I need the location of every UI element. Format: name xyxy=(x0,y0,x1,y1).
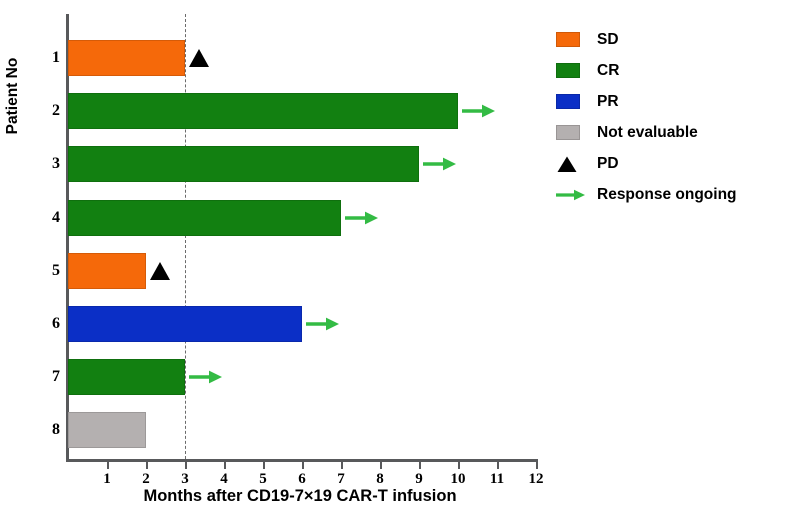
reference-line-month-3 xyxy=(185,14,186,464)
legend-row-response-ongoing[interactable]: Response ongoing xyxy=(556,179,800,210)
legend-label: SD xyxy=(590,31,619,49)
y-tick-label-patient-6: 6 xyxy=(34,306,60,342)
bar-patient-4[interactable] xyxy=(68,200,341,236)
y-tick-label-patient-1: 1 xyxy=(34,40,60,76)
x-tick-2 xyxy=(146,461,148,469)
y-tick-label-patient-7: 7 xyxy=(34,359,60,395)
bar-row xyxy=(68,253,536,289)
green-arrow-icon xyxy=(345,211,379,225)
green-square-icon xyxy=(556,63,580,78)
bar-patient-5[interactable] xyxy=(68,253,146,289)
legend-row-cr[interactable]: CR xyxy=(556,55,800,86)
x-tick-label-4: 4 xyxy=(207,471,241,488)
legend: SDCRPRNot evaluablePDResponse ongoing xyxy=(556,24,800,210)
bar-row xyxy=(68,40,536,76)
orange-square-icon xyxy=(556,24,590,55)
x-tick-label-12: 12 xyxy=(519,471,553,488)
x-tick-3 xyxy=(185,461,187,469)
x-tick-1 xyxy=(107,461,109,469)
x-tick-label-6: 6 xyxy=(285,471,319,488)
legend-label: Response ongoing xyxy=(590,186,737,204)
green-arrow-icon xyxy=(556,179,590,210)
bar-row xyxy=(68,200,536,236)
legend-row-pd[interactable]: PD xyxy=(556,148,800,179)
bar-row xyxy=(68,412,536,448)
y-tick-label-patient-3: 3 xyxy=(34,146,60,182)
gray-square-icon xyxy=(556,117,590,148)
green-arrow-icon xyxy=(423,157,457,171)
bar-row xyxy=(68,306,536,342)
legend-label: PR xyxy=(590,93,619,111)
black-triangle-icon xyxy=(149,261,171,281)
x-tick-label-11: 11 xyxy=(480,471,514,488)
plot-area: 12345678 123456789101112 xyxy=(68,14,536,459)
x-tick-6 xyxy=(302,461,304,469)
x-tick-8 xyxy=(380,461,382,469)
y-axis-title: Patient No xyxy=(0,16,26,176)
blue-square-icon xyxy=(556,86,590,117)
legend-label: Not evaluable xyxy=(590,124,698,142)
x-tick-label-9: 9 xyxy=(402,471,436,488)
legend-label: PD xyxy=(590,155,619,173)
y-tick-label-patient-5: 5 xyxy=(34,253,60,289)
x-tick-label-1: 1 xyxy=(90,471,124,488)
bar-row xyxy=(68,93,536,129)
x-tick-label-10: 10 xyxy=(441,471,475,488)
black-triangle-icon xyxy=(556,148,590,179)
x-tick-label-8: 8 xyxy=(363,471,397,488)
blue-square-icon xyxy=(556,94,580,109)
survival-swimmer-plot-figure: Patient No 12345678 123456789101112 Mont… xyxy=(0,0,804,521)
bar-row xyxy=(68,359,536,395)
bar-patient-3[interactable] xyxy=(68,146,419,182)
x-tick-12 xyxy=(536,461,538,469)
x-tick-4 xyxy=(224,461,226,469)
y-tick-label-patient-4: 4 xyxy=(34,200,60,236)
green-arrow-icon xyxy=(462,104,496,118)
x-tick-7 xyxy=(341,461,343,469)
y-tick-label-patient-8: 8 xyxy=(34,412,60,448)
x-tick-label-3: 3 xyxy=(168,471,202,488)
green-arrow-icon xyxy=(306,317,340,331)
bar-row xyxy=(68,146,536,182)
x-tick-label-7: 7 xyxy=(324,471,358,488)
orange-square-icon xyxy=(556,32,580,47)
green-square-icon xyxy=(556,55,590,86)
bar-patient-7[interactable] xyxy=(68,359,185,395)
bar-patient-2[interactable] xyxy=(68,93,458,129)
black-triangle-icon xyxy=(188,48,210,68)
x-axis-title: Months after CD19-7×19 CAR-T infusion xyxy=(60,487,540,506)
gray-square-icon xyxy=(556,125,580,140)
bar-patient-1[interactable] xyxy=(68,40,185,76)
bar-patient-8[interactable] xyxy=(68,412,146,448)
legend-row-pr[interactable]: PR xyxy=(556,86,800,117)
legend-row-not-evaluable[interactable]: Not evaluable xyxy=(556,117,800,148)
x-tick-label-2: 2 xyxy=(129,471,163,488)
x-tick-5 xyxy=(263,461,265,469)
x-tick-label-5: 5 xyxy=(246,471,280,488)
y-tick-label-patient-2: 2 xyxy=(34,93,60,129)
legend-label: CR xyxy=(590,62,619,80)
bar-patient-6[interactable] xyxy=(68,306,302,342)
x-tick-11 xyxy=(497,461,499,469)
x-tick-9 xyxy=(419,461,421,469)
green-arrow-icon xyxy=(189,370,223,384)
x-tick-10 xyxy=(458,461,460,469)
legend-row-sd[interactable]: SD xyxy=(556,24,800,55)
